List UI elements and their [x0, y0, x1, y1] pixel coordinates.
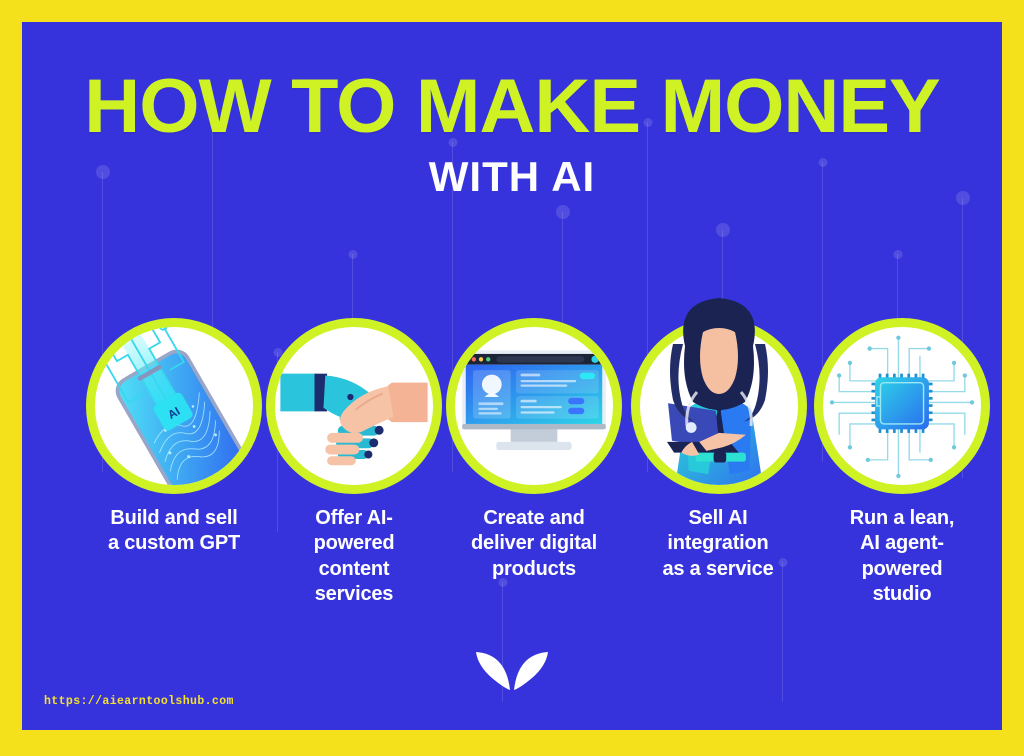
- woman-with-laptop-icon: [640, 327, 798, 485]
- site-url[interactable]: https://aiearntoolshub.com: [44, 695, 234, 708]
- caption-line: deliver digital: [446, 531, 622, 556]
- caption-line: integration: [632, 531, 804, 556]
- caption-row: Build and sella custom GPT Offer AI-powe…: [22, 506, 1002, 646]
- caption-5: Run a lean,AI agent-poweredstudio: [814, 506, 990, 608]
- icon-circle-2: [266, 318, 442, 494]
- caption-2: Offer AI-poweredcontentservices: [284, 506, 424, 608]
- page-subtitle: WITH AI: [22, 156, 1002, 198]
- smartphone-ai-chip-icon: AI: [95, 327, 253, 485]
- caption-line: Run a lean,: [814, 506, 990, 531]
- caption-line: studio: [814, 582, 990, 607]
- caption-line: content: [284, 557, 424, 582]
- item-4[interactable]: [631, 318, 807, 494]
- icon-circle-1: AI: [86, 318, 262, 494]
- caption-line: a custom GPT: [84, 531, 264, 556]
- icon-row: AI: [22, 318, 1002, 500]
- caption-1: Build and sella custom GPT: [84, 506, 264, 557]
- page-title: HOW TO MAKE MONEY: [22, 70, 1002, 144]
- caption-line: powered: [814, 557, 990, 582]
- caption-line: services: [284, 582, 424, 607]
- poster-canvas: HOW TO MAKE MONEY WITH AI: [22, 22, 1002, 730]
- item-1[interactable]: AI: [86, 318, 262, 494]
- poster-header: HOW TO MAKE MONEY WITH AI: [22, 70, 1002, 198]
- caption-4: Sell AIintegrationas a service: [632, 506, 804, 582]
- caption-line: AI agent-: [814, 531, 990, 556]
- caption-3: Create anddeliver digitalproducts: [446, 506, 622, 582]
- caption-line: Offer AI-: [284, 506, 424, 531]
- caption-line: Sell AI: [632, 506, 804, 531]
- robot-human-handshake-icon: [275, 327, 433, 485]
- infographic-poster: HOW TO MAKE MONEY WITH AI: [0, 0, 1024, 756]
- desktop-monitor-dashboard-icon: [455, 327, 613, 485]
- sprout-leaf-logo: [474, 648, 550, 694]
- caption-line: as a service: [632, 557, 804, 582]
- caption-line: products: [446, 557, 622, 582]
- item-2[interactable]: [266, 318, 442, 494]
- microchip-circuit-icon: [823, 327, 981, 485]
- icon-circle-4: [631, 318, 807, 494]
- item-5[interactable]: [814, 318, 990, 494]
- caption-line: Build and sell: [84, 506, 264, 531]
- icon-circle-3: [446, 318, 622, 494]
- item-3[interactable]: [446, 318, 622, 494]
- caption-line: powered: [284, 531, 424, 556]
- caption-line: Create and: [446, 506, 622, 531]
- icon-circle-5: [814, 318, 990, 494]
